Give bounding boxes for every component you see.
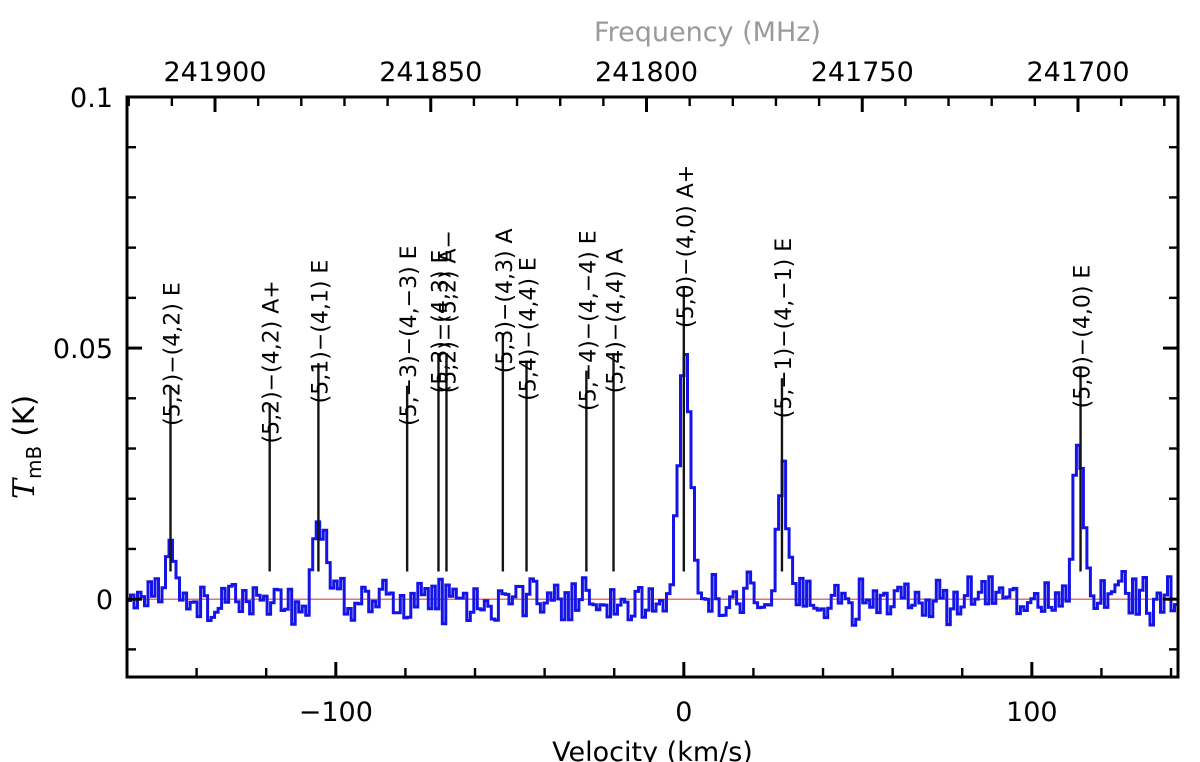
x-tick-label-2: 100 bbox=[1006, 697, 1058, 728]
freq-tick-label-1: 241850 bbox=[379, 57, 482, 88]
transition-label-10: (5,0)−(4,0) A+ bbox=[674, 165, 699, 328]
transition-label-11: (5,−1)−(4,−1) E bbox=[772, 238, 797, 419]
y-tick-label-2: 0.1 bbox=[70, 83, 113, 114]
transition-label-9: (5,4)−(4,4) A bbox=[604, 248, 629, 393]
x-axis-title: Velocity (km/s) bbox=[552, 737, 753, 762]
freq-tick-label-4: 241700 bbox=[1026, 57, 1129, 88]
spectrum-plot: (5,2)−(4,2) E(5,2)−(4,2) A+(5,1)−(4,1) E… bbox=[0, 0, 1200, 762]
transition-label-6: (5,3)−(4,3) A bbox=[493, 228, 518, 373]
transition-label-0: (5,2)−(4,2) E bbox=[161, 282, 186, 426]
x-tick-label-0: −100 bbox=[299, 697, 373, 728]
top-axis-title: Frequency (MHz) bbox=[594, 17, 821, 48]
spectrum-figure: (5,2)−(4,2) E(5,2)−(4,2) A+(5,1)−(4,1) E… bbox=[0, 0, 1200, 762]
x-tick-label-1: 0 bbox=[675, 697, 692, 728]
transition-label-12: (5,0)−(4,0) E bbox=[1071, 265, 1096, 409]
transition-label-8: (5,−4)−(4,−4) E bbox=[576, 230, 601, 411]
transition-label-7: (5,4)−(4,4) E bbox=[517, 257, 542, 401]
transition-label-3: (5,−3)−(4,−3) E bbox=[397, 245, 422, 426]
y-axis-title: TmB (K) bbox=[7, 395, 46, 499]
freq-tick-label-2: 241800 bbox=[595, 57, 698, 88]
freq-tick-label-3: 241750 bbox=[811, 57, 914, 88]
y-tick-label-1: 0.05 bbox=[53, 334, 113, 365]
transition-label-1: (5,2)−(4,2) A+ bbox=[260, 280, 285, 443]
transition-label-5: (5,2)−(5,2) A− bbox=[436, 230, 461, 393]
y-tick-label-0: 0 bbox=[96, 585, 113, 616]
freq-tick-label-0: 241900 bbox=[163, 57, 266, 88]
transition-label-2: (5,1)−(4,1) E bbox=[308, 260, 333, 404]
